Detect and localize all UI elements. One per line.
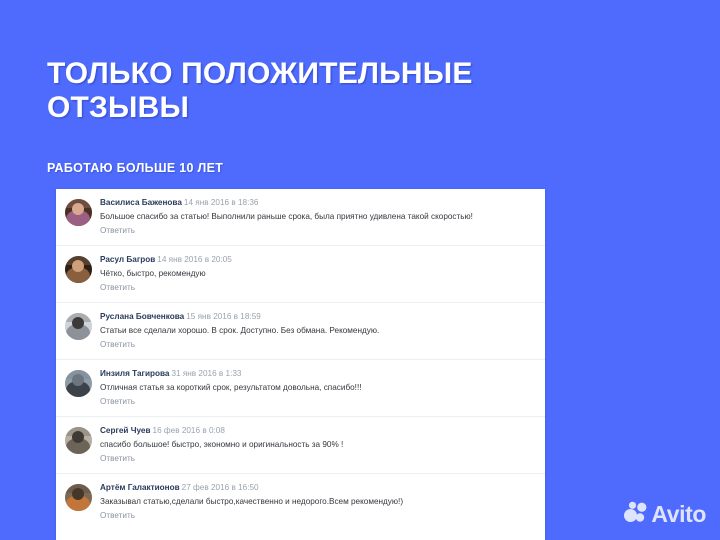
review-meta: Артём Галактионов27 фев 2016 в 16:50 bbox=[100, 482, 531, 494]
review-text: Чётко, быстро, рекомендую bbox=[100, 267, 531, 280]
review-meta: Руслана Бовченкова15 янв 2016 в 18:59 bbox=[100, 311, 531, 323]
review-date: 14 янв 2016 в 20:05 bbox=[157, 255, 232, 264]
review-meta: Василиса Баженова14 янв 2016 в 18:36 bbox=[100, 197, 531, 209]
avatar bbox=[65, 370, 92, 397]
avatar bbox=[65, 313, 92, 340]
review-author: Василиса Баженова bbox=[100, 198, 182, 207]
review-meta: Инзиля Тагирова31 янв 2016 в 1:33 bbox=[100, 368, 531, 380]
reviews-card: Василиса Баженова14 янв 2016 в 18:36Боль… bbox=[56, 189, 545, 540]
review-date: 31 янв 2016 в 1:33 bbox=[171, 369, 241, 378]
reply-link[interactable]: Ответить bbox=[100, 339, 531, 351]
review-date: 27 фев 2016 в 16:50 bbox=[182, 483, 259, 492]
review-meta: Сергей Чуев16 фев 2016 в 0:08 bbox=[100, 425, 531, 437]
review-item: Сергей Чуев16 фев 2016 в 0:08спасибо бол… bbox=[56, 417, 545, 474]
review-date: 16 фев 2016 в 0:08 bbox=[153, 426, 225, 435]
review-text: Большое спасибо за статью! Выполнили ран… bbox=[100, 210, 531, 223]
review-author: Сергей Чуев bbox=[100, 426, 151, 435]
review-meta: Расул Багров14 янв 2016 в 20:05 bbox=[100, 254, 531, 266]
page-subtitle: РАБОТАЮ БОЛЬШЕ 10 ЛЕТ bbox=[47, 161, 223, 175]
avito-watermark: Avito bbox=[623, 501, 706, 528]
review-text: спасибо большое! быстро, экономно и ориг… bbox=[100, 438, 531, 451]
reply-link[interactable]: Ответить bbox=[100, 453, 531, 465]
review-date: 15 янв 2016 в 18:59 bbox=[186, 312, 261, 321]
avito-dots-logo-icon bbox=[623, 501, 647, 528]
review-text: Статьи все сделали хорошо. В срок. Досту… bbox=[100, 324, 531, 337]
review-author: Инзиля Тагирова bbox=[100, 369, 169, 378]
avatar bbox=[65, 199, 92, 226]
review-item: Расул Багров14 янв 2016 в 20:05Чётко, бы… bbox=[56, 246, 545, 303]
reply-link[interactable]: Ответить bbox=[100, 510, 531, 522]
review-item: Артём Галактионов27 фев 2016 в 16:50Зака… bbox=[56, 474, 545, 531]
review-date: 14 янв 2016 в 18:36 bbox=[184, 198, 259, 207]
review-author: Расул Багров bbox=[100, 255, 155, 264]
avito-wordmark: Avito bbox=[651, 503, 706, 526]
page-title: ТОЛЬКО ПОЛОЖИТЕЛЬНЫЕ ОТЗЫВЫ bbox=[47, 57, 567, 124]
reply-link[interactable]: Ответить bbox=[100, 225, 531, 237]
review-item: Инзиля Тагирова31 янв 2016 в 1:33Отлична… bbox=[56, 360, 545, 417]
review-item: Василиса Баженова14 янв 2016 в 18:36Боль… bbox=[56, 189, 545, 246]
review-item: Руслана Бовченкова15 янв 2016 в 18:59Ста… bbox=[56, 303, 545, 360]
reply-link[interactable]: Ответить bbox=[100, 282, 531, 294]
review-author: Артём Галактионов bbox=[100, 483, 180, 492]
avatar bbox=[65, 484, 92, 511]
review-author: Руслана Бовченкова bbox=[100, 312, 184, 321]
review-text: Отличная статья за короткий срок, резуль… bbox=[100, 381, 531, 394]
review-text: Заказывал статью,сделали быстро,качестве… bbox=[100, 495, 531, 508]
reply-link[interactable]: Ответить bbox=[100, 396, 531, 408]
avatar bbox=[65, 256, 92, 283]
avatar bbox=[65, 427, 92, 454]
